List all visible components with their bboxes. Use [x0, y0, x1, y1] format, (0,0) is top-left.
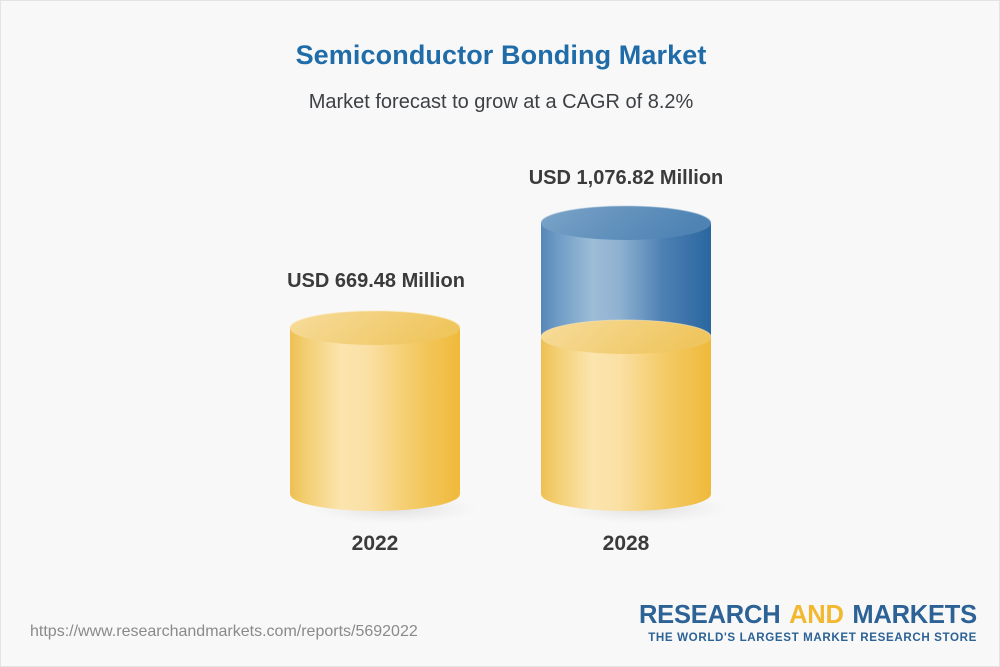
- research-and-markets-logo[interactable]: RESEARCH AND MARKETS THE WORLD'S LARGEST…: [639, 602, 977, 645]
- value-label-2028: USD 1,076.82 Million: [456, 167, 796, 190]
- category-label-2022: 2022: [290, 532, 460, 556]
- logo-tagline: THE WORLD'S LARGEST MARKET RESEARCH STOR…: [639, 631, 977, 645]
- category-label-2028: 2028: [541, 532, 711, 556]
- source-url[interactable]: https://www.researchandmarkets.com/repor…: [30, 623, 418, 641]
- chart-canvas: Semiconductor Bonding Market Market fore…: [0, 0, 1000, 667]
- plot-area: USD 669.48 Million USD 1,076.82 Million: [1, 1, 1000, 667]
- bar-cylinder-2022[interactable]: [282, 304, 478, 529]
- logo-space-1: [780, 601, 789, 629]
- logo-word-and: AND: [789, 601, 844, 629]
- bar-cylinder-2028[interactable]: [533, 199, 729, 529]
- logo-word-markets: MARKETS: [852, 601, 977, 629]
- value-label-2022: USD 669.48 Million: [206, 270, 546, 293]
- logo-wordmark: RESEARCH AND MARKETS: [639, 602, 977, 629]
- logo-word-research: RESEARCH: [639, 601, 781, 629]
